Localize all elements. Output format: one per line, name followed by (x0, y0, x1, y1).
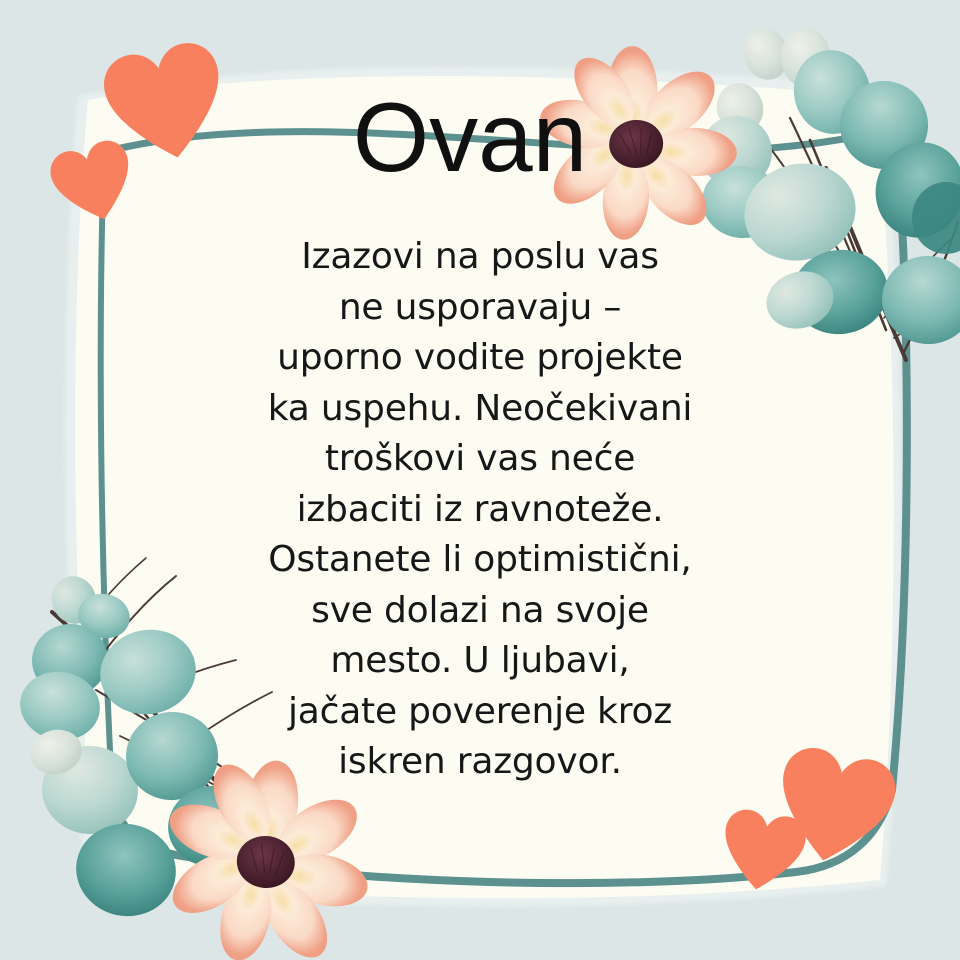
horoscope-line: ne usporavaju – (170, 283, 790, 334)
horoscope-line: sve dolazi na svoje (170, 586, 790, 637)
horoscope-line: mesto. U ljubavi, (170, 636, 790, 687)
zodiac-card-canvas: Ovan Izazovi na poslu vasne usporavaju –… (0, 0, 960, 960)
horoscope-line: ka uspehu. Neočekivani (170, 384, 790, 435)
horoscope-body-text: Izazovi na poslu vasne usporavaju –uporn… (170, 232, 790, 788)
horoscope-line: izbaciti iz ravnoteže. (170, 485, 790, 536)
horoscope-line: Ostanete li optimistični, (170, 535, 790, 586)
horoscope-line: uporno vodite projekte (170, 333, 790, 384)
heart-bottom-right-small (716, 806, 809, 896)
horoscope-line: iskren razgovor. (170, 737, 790, 788)
horoscope-line: troškovi vas neće (170, 434, 790, 485)
page-title: Ovan (0, 88, 950, 186)
horoscope-line: jačate poverenje kroz (170, 687, 790, 738)
horoscope-line: Izazovi na poslu vas (170, 232, 790, 283)
